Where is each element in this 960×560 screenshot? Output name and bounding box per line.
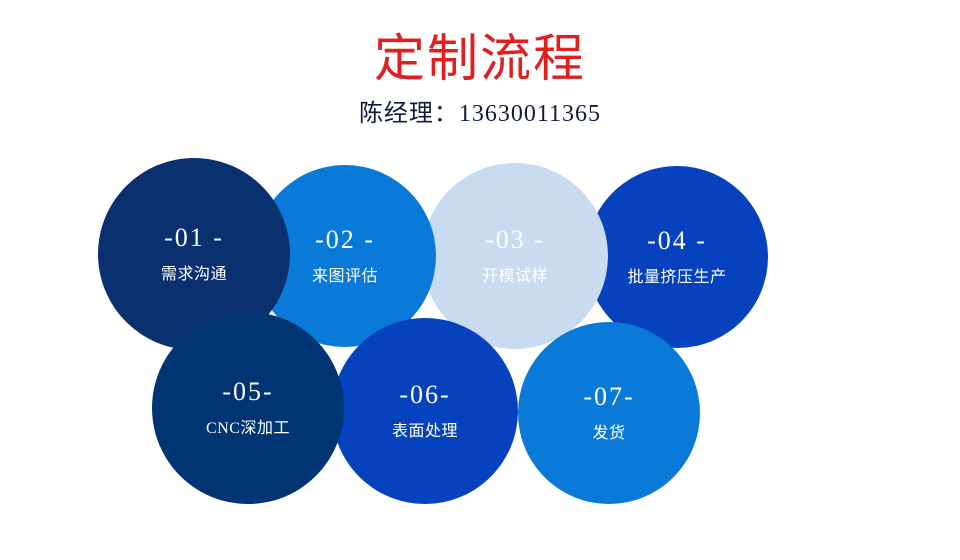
process-step-07[interactable]: -07- 发货 (518, 322, 700, 504)
slide-canvas: 定制流程 陈经理：13630011365 -01 - 需求沟通 -02 - 来图… (0, 0, 960, 560)
step-label-05: CNC深加工 (206, 421, 290, 437)
process-step-05[interactable]: -05- CNC深加工 (152, 312, 344, 504)
step-label-07: 发货 (592, 426, 625, 442)
contact-subtitle: 陈经理：13630011365 (0, 88, 960, 129)
step-number-04: -04 - (647, 228, 707, 254)
step-number-06: -06- (399, 382, 450, 408)
step-number-02: -02 - (315, 227, 375, 253)
step-label-04: 批量挤压生产 (627, 270, 726, 286)
process-step-06[interactable]: -06- 表面处理 (332, 318, 518, 504)
step-number-01: -01 - (164, 225, 224, 251)
step-number-03: -03 - (485, 227, 545, 253)
step-label-06: 表面处理 (392, 424, 458, 440)
step-label-01: 需求沟通 (161, 267, 227, 283)
process-step-04[interactable]: -04 - 批量挤压生产 (586, 166, 768, 348)
header: 定制流程 陈经理：13630011365 (0, 0, 960, 128)
step-number-07: -07- (583, 384, 634, 410)
step-number-05: -05- (222, 379, 273, 405)
page-title: 定制流程 (0, 0, 960, 88)
step-label-02: 来图评估 (312, 269, 378, 285)
step-label-03: 开模试样 (482, 269, 548, 285)
